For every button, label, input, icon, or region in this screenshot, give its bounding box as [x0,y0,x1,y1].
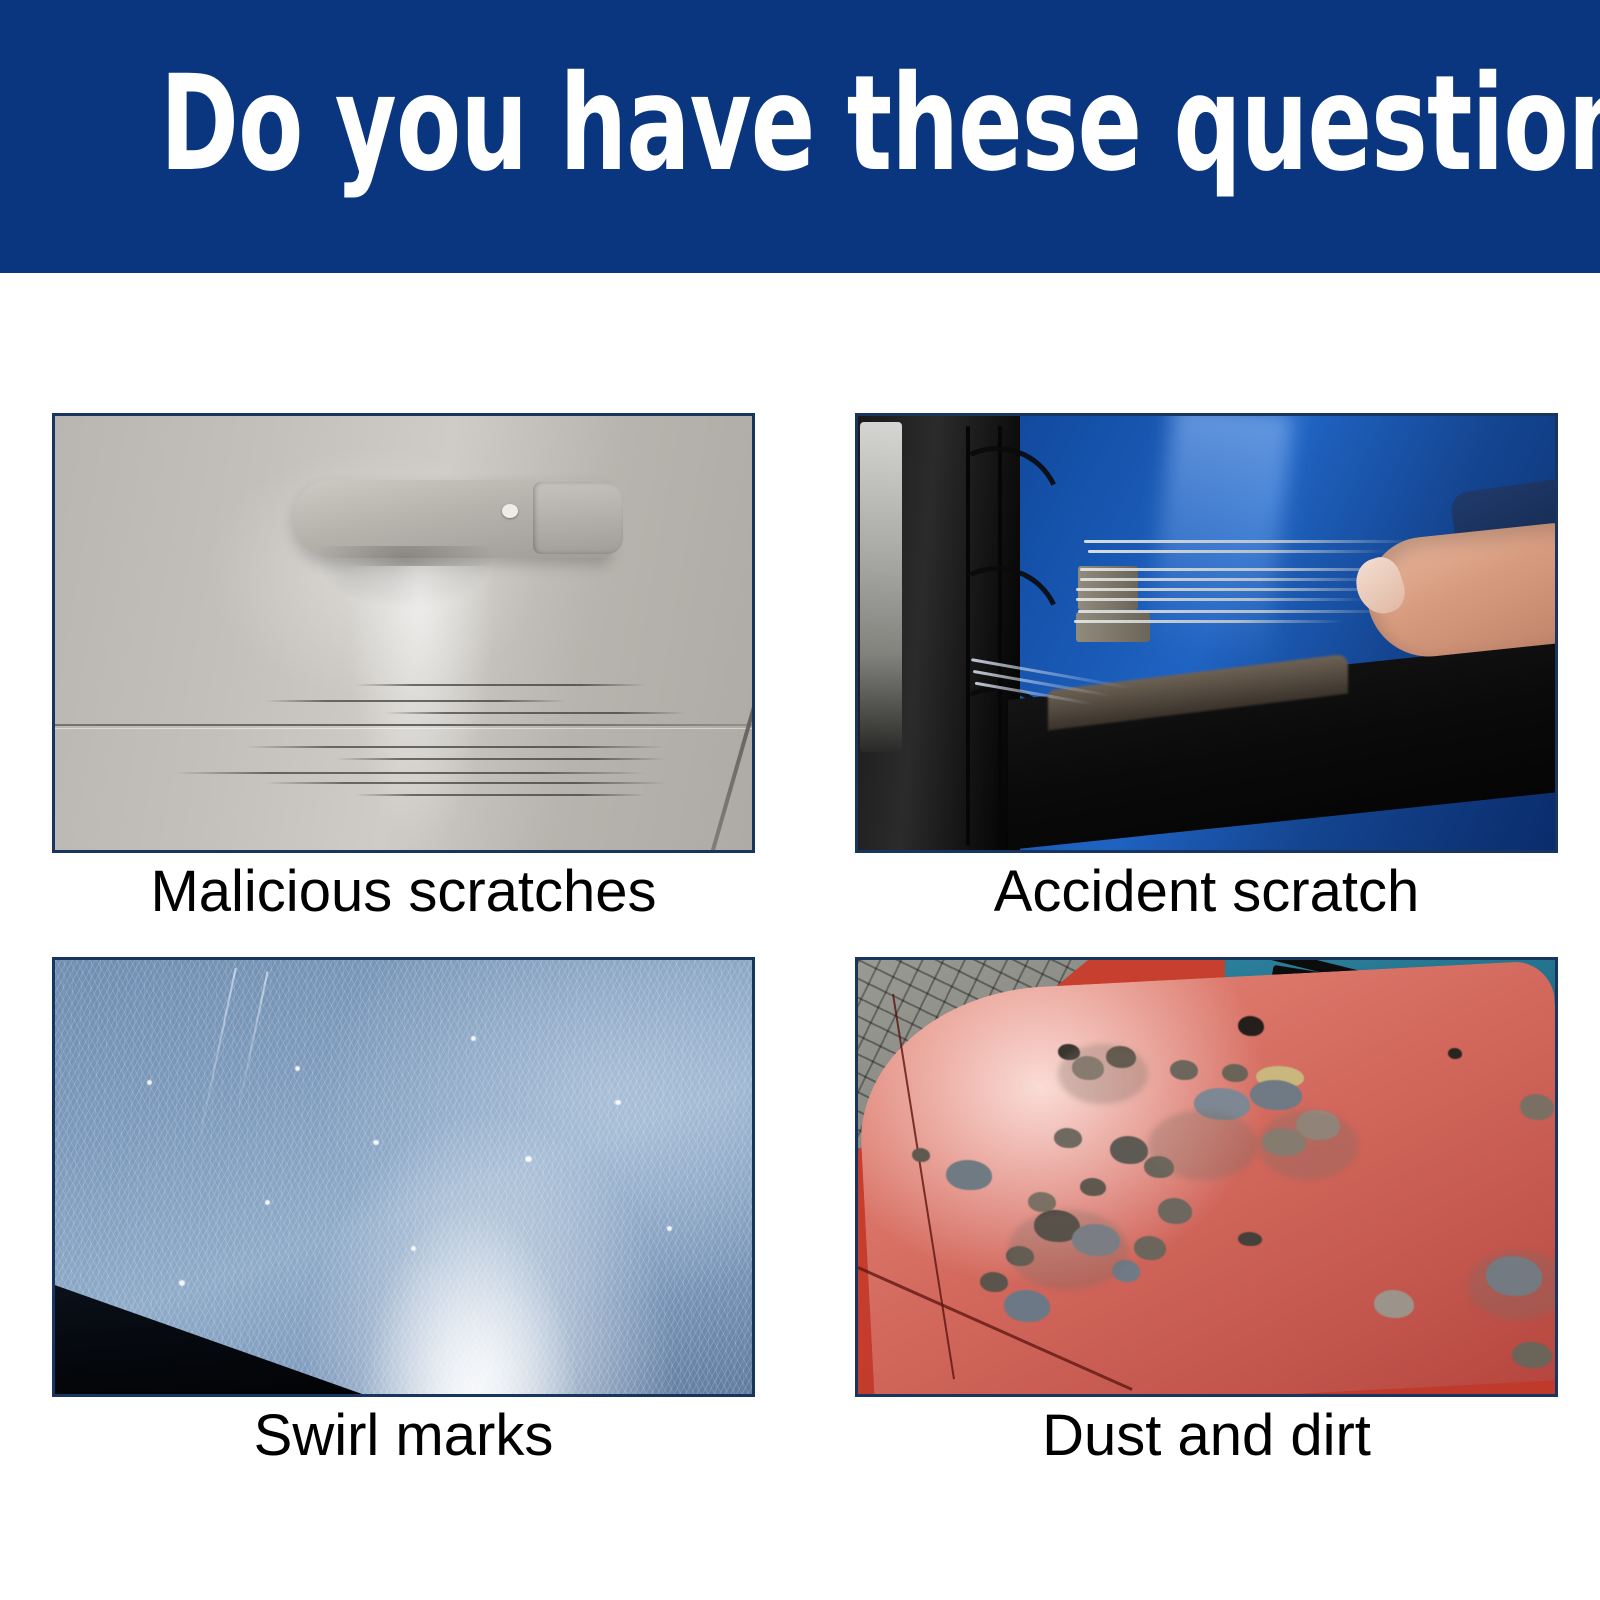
dirt-spot [1238,1232,1262,1246]
page-title: Do you have these questions? [160,58,1440,190]
splatter-halo [1148,1110,1258,1180]
body-crease-line [55,724,752,726]
card-caption: Dust and dirt [855,1407,1558,1465]
sparkle-dot [295,1066,300,1071]
dirt-spot [1238,1016,1264,1036]
bird-dropping [946,1160,992,1190]
bird-dropping [1374,1290,1414,1318]
sparkle-dot [373,1140,379,1145]
scratch-line [335,758,665,760]
scratch-line [245,746,665,748]
sparkle-dot [525,1156,532,1162]
antenna-shape [697,685,755,853]
sparkle-dot [615,1100,621,1105]
bird-dropping [1250,1080,1302,1110]
scratch-line [265,700,565,702]
card-malicious-scratches: Malicious scratches [52,413,755,921]
card-swirl-marks: Swirl marks [52,957,755,1465]
scratch-gouge [1076,612,1150,642]
card-caption: Accident scratch [855,863,1558,921]
splatter-halo [1058,1044,1148,1104]
scratch-line [1084,540,1414,543]
splatter-halo [1258,1110,1358,1180]
bird-dropping [1512,1342,1552,1368]
paint-highlight-shape [345,566,495,853]
bird-dropping [1170,1060,1198,1080]
tire-highlight-shape [860,422,902,752]
sparkle-dot [667,1226,672,1231]
bird-dropping [1134,1236,1166,1260]
sparkle-dot [147,1080,152,1085]
scratch-line [1076,588,1396,591]
body-crease-highlight [55,728,752,729]
keyhole-shape [502,504,518,518]
card-caption: Swirl marks [52,1407,755,1465]
sparkle-dot [179,1280,185,1286]
scratch-line [1078,610,1388,613]
scratch-line [355,684,645,686]
bird-dropping [1158,1198,1192,1224]
photo-malicious-scratches [52,413,755,853]
bird-dropping [1222,1064,1248,1082]
scratch-line [355,794,645,796]
dirt-spot [1448,1048,1462,1059]
splatter-halo [1468,1250,1558,1320]
scratch-line [1080,578,1380,581]
card-accident-scratch: Accident scratch [855,413,1558,921]
sparkle-dot [471,1036,476,1041]
sparkle-dot [265,1200,270,1205]
bird-dropping [1080,1178,1106,1196]
bird-dropping [1110,1136,1148,1164]
card-dust-and-dirt: Dust and dirt [855,957,1558,1465]
bird-dropping [1054,1128,1082,1148]
card-caption: Malicious scratches [52,863,755,921]
splatter-halo [1008,1210,1128,1290]
bird-dropping [1028,1192,1056,1212]
scratch-line [1088,550,1388,553]
feature-grid: Malicious scratches [52,413,1558,1398]
scratch-line [265,782,665,784]
scratch-line [1074,620,1344,623]
photo-accident-scratch [855,413,1558,853]
header-banner: Do you have these questions? [0,0,1600,273]
photo-dust-and-dirt [855,957,1558,1397]
dirt-spot [912,1148,930,1162]
bird-dropping [1004,1290,1050,1322]
scratch-line [1076,598,1366,601]
sun-glare-shape [355,1194,585,1397]
door-handle-cap-shape [533,482,623,554]
scratch-line [385,712,685,714]
photo-swirl-marks [52,957,755,1397]
bird-dropping [1520,1094,1554,1120]
tire-shape [858,416,1020,850]
scratch-line [175,772,645,774]
bird-dropping [980,1272,1008,1292]
